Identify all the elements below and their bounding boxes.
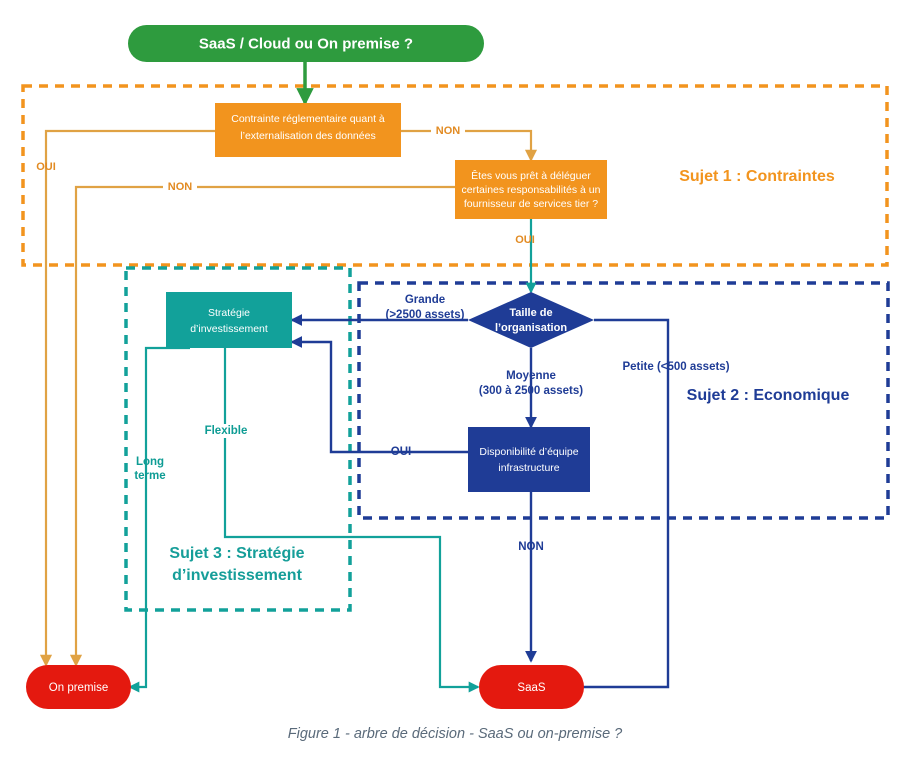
edge-regulatory-non-to-delegate bbox=[400, 131, 531, 160]
node-infra-team-availability[interactable]: Disponibilité d’équipe infrastructure bbox=[468, 427, 590, 492]
edge-label-delegate-non: NON bbox=[168, 181, 193, 193]
edge-label-regulatory-oui: OUI bbox=[36, 161, 56, 173]
edge-label-infra-non: NON bbox=[518, 541, 544, 553]
node-regulatory-line1: Contrainte réglementaire quant à bbox=[231, 113, 385, 125]
decision-tree-canvas: SaaS / Cloud ou On premise ? Contrainte … bbox=[0, 0, 910, 766]
decision-tree-figure: SaaS / Cloud ou On premise ? Contrainte … bbox=[0, 0, 910, 766]
node-regulatory-line2: l’externalisation des données bbox=[240, 130, 375, 142]
edge-label-size-moyenne-l2: (300 à 2500 assets) bbox=[479, 385, 583, 397]
edge-label-size-grande-l2: (>2500 assets) bbox=[386, 309, 465, 321]
edge-label-size-petite: Petite (<500 assets) bbox=[622, 361, 729, 373]
node-on-premise-label: On premise bbox=[49, 682, 108, 694]
node-org-size-line2: l’organisation bbox=[495, 322, 567, 334]
edge-regulatory-oui-to-on-premise bbox=[46, 131, 215, 665]
node-start-label: SaaS / Cloud ou On premise ? bbox=[199, 35, 413, 52]
node-org-size-line1: Taille de bbox=[509, 307, 552, 319]
edge-label-size-moyenne-l1: Moyenne bbox=[506, 370, 556, 382]
node-org-size-decision[interactable]: Taille de l’organisation bbox=[468, 292, 594, 348]
node-delegate-line2: certaines responsabilités à un bbox=[462, 184, 601, 196]
node-investment-strategy[interactable]: Stratégie d’investissement bbox=[166, 292, 292, 348]
node-start[interactable]: SaaS / Cloud ou On premise ? bbox=[128, 25, 484, 62]
group-title-sujet-2: Sujet 2 : Economique bbox=[687, 387, 850, 404]
node-saas-label: SaaS bbox=[517, 682, 545, 694]
edge-long-terme-to-on-premise bbox=[130, 348, 190, 687]
edge-delegate-non-to-on-premise bbox=[76, 187, 455, 665]
node-infra-line1: Disponibilité d’équipe bbox=[479, 446, 578, 458]
edge-label-long-terme-l1: Long bbox=[136, 456, 164, 468]
figure-caption: Figure 1 - arbre de décision - SaaS ou o… bbox=[0, 726, 910, 742]
group-title-sujet-1: Sujet 1 : Contraintes bbox=[679, 168, 835, 185]
edge-label-size-grande-l1: Grande bbox=[405, 294, 445, 306]
edge-infra-oui-to-strategy bbox=[292, 342, 468, 452]
edge-label-infra-oui: OUI bbox=[391, 446, 411, 458]
node-strategy-line2: d’investissement bbox=[190, 323, 268, 335]
node-regulatory-constraint[interactable]: Contrainte réglementaire quant à l’exter… bbox=[215, 103, 401, 157]
node-on-premise[interactable]: On premise bbox=[26, 665, 131, 709]
edge-label-delegate-oui: OUI bbox=[515, 234, 535, 246]
node-delegate-responsibilities[interactable]: Êtes vous prêt à déléguer certaines resp… bbox=[455, 160, 607, 219]
node-saas[interactable]: SaaS bbox=[479, 665, 584, 709]
group-title-sujet-3-line2: d’investissement bbox=[172, 567, 303, 584]
edge-label-long-terme-l2: terme bbox=[134, 470, 165, 482]
edge-label-regulatory-non: NON bbox=[436, 125, 461, 137]
node-delegate-line3: fournisseur de services tier ? bbox=[464, 198, 598, 210]
node-delegate-line1: Êtes vous prêt à déléguer bbox=[471, 169, 591, 182]
group-title-sujet-3-line1: Sujet 3 : Stratégie bbox=[169, 545, 304, 562]
node-infra-line2: infrastructure bbox=[498, 462, 559, 474]
node-strategy-line1: Stratégie bbox=[208, 307, 250, 319]
edge-petite-to-saas bbox=[572, 320, 668, 687]
edge-label-flexible: Flexible bbox=[205, 425, 248, 437]
